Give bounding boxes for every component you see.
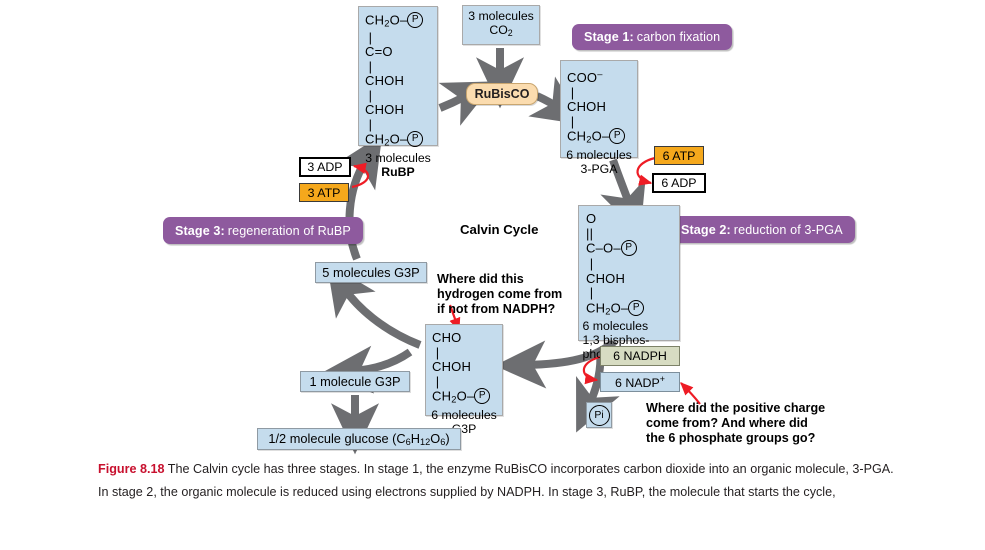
molecule-box-13-bpg: O || C–O–P | CHOH | CH2O–P 6 molecules 1…: [578, 205, 680, 341]
figure-caption: Figure 8.18 The Calvin cycle has three s…: [98, 458, 898, 504]
stage-3-number: Stage 3:: [175, 224, 225, 238]
stage-badge-3: Stage 3: regeneration of RuBP: [163, 217, 363, 244]
co2-count: 3 molecules: [467, 10, 535, 24]
enzyme-label: RuBisCO: [475, 87, 530, 101]
tag-6-nadp-plus: 6 NADP+: [600, 372, 680, 392]
g3p-structure: CHO | CHOH | CH2O–P: [426, 331, 490, 407]
tag-3-atp: 3 ATP: [299, 183, 349, 202]
annotation-charge-question: Where did the positive charge come from?…: [646, 401, 896, 446]
annotation-hydrogen-question: Where did this hydrogen come from if not…: [437, 272, 587, 317]
flatbox-5-molecules-g3p: 5 molecules G3P: [315, 262, 427, 283]
tag-3-adp: 3 ADP: [299, 157, 351, 177]
cycle-title: Calvin Cycle: [460, 222, 538, 237]
molecule-box-co2: 3 molecules CO2: [462, 5, 540, 45]
pi-circle-icon: Pi: [589, 405, 610, 426]
flatbox-half-molecule-glucose: 1/2 molecule glucose (C6H12O6): [257, 428, 461, 450]
bpg-structure: O || C–O–P | CHOH | CH2O–P: [579, 212, 644, 318]
pga-count: 6 molecules: [561, 149, 637, 163]
five-g3p-label: 5 molecules G3P: [322, 265, 419, 280]
stage-badge-1: Stage 1: carbon fixation: [572, 24, 732, 50]
tag-6-nadp-plus-label: 6 NADP+: [615, 374, 665, 390]
g3p-count: 6 molecules: [426, 409, 502, 423]
bpg-count: 6 molecules: [576, 320, 683, 334]
tag-6-atp-label: 6 ATP: [663, 149, 696, 163]
molecule-box-g3p-center: CHO | CHOH | CH2O–P 6 molecules G3P: [425, 324, 503, 416]
rubp-structure: CH2O–P | C=O | CHOH | CHOH | CH2O–P: [359, 13, 423, 150]
stage-3-label: regeneration of RuBP: [228, 224, 351, 238]
tag-3-adp-label: 3 ADP: [307, 160, 342, 174]
one-g3p-label: 1 molecule G3P: [309, 374, 400, 389]
tag-6-nadph-label: 6 NADPH: [613, 349, 667, 363]
figure-number: Figure 8.18: [98, 462, 165, 476]
pga-structure: COO– | CHOH | CH2O–P: [561, 67, 625, 147]
molecule-box-3pga: COO– | CHOH | CH2O–P 6 molecules 3-PGA: [560, 60, 638, 158]
tag-6-atp: 6 ATP: [654, 146, 704, 165]
rubp-count: 3 molecules: [359, 152, 437, 166]
tag-6-adp: 6 ADP: [652, 173, 706, 193]
calvin-cycle-figure: 3 molecules CO2 CH2O–P | C=O | CHOH | CH…: [0, 0, 985, 550]
enzyme-pill-rubisco[interactable]: RuBisCO: [466, 83, 538, 105]
tag-6-adp-label: 6 ADP: [661, 176, 696, 190]
figure-caption-text: The Calvin cycle has three stages. In st…: [98, 462, 894, 499]
stage-badge-2: Stage 2: reduction of 3-PGA: [669, 216, 855, 243]
pga-name: 3-PGA: [561, 163, 637, 177]
stage-2-label: reduction of 3-PGA: [734, 223, 843, 237]
glucose-label: 1/2 molecule glucose (C6H12O6): [268, 431, 449, 447]
molecule-box-rubp: CH2O–P | C=O | CHOH | CHOH | CH2O–P 3 mo…: [358, 6, 438, 146]
rubp-name: RuBP: [359, 166, 437, 180]
tag-6-nadph: 6 NADPH: [600, 346, 680, 366]
co2-name: CO2: [467, 24, 535, 41]
stage-2-number: Stage 2:: [681, 223, 731, 237]
tag-3-atp-label: 3 ATP: [308, 186, 341, 200]
inorganic-phosphate-box: Pi: [586, 402, 612, 428]
stage-1-label: carbon fixation: [637, 30, 720, 44]
stage-1-number: Stage 1:: [584, 30, 634, 44]
flatbox-1-molecule-g3p: 1 molecule G3P: [300, 371, 410, 392]
